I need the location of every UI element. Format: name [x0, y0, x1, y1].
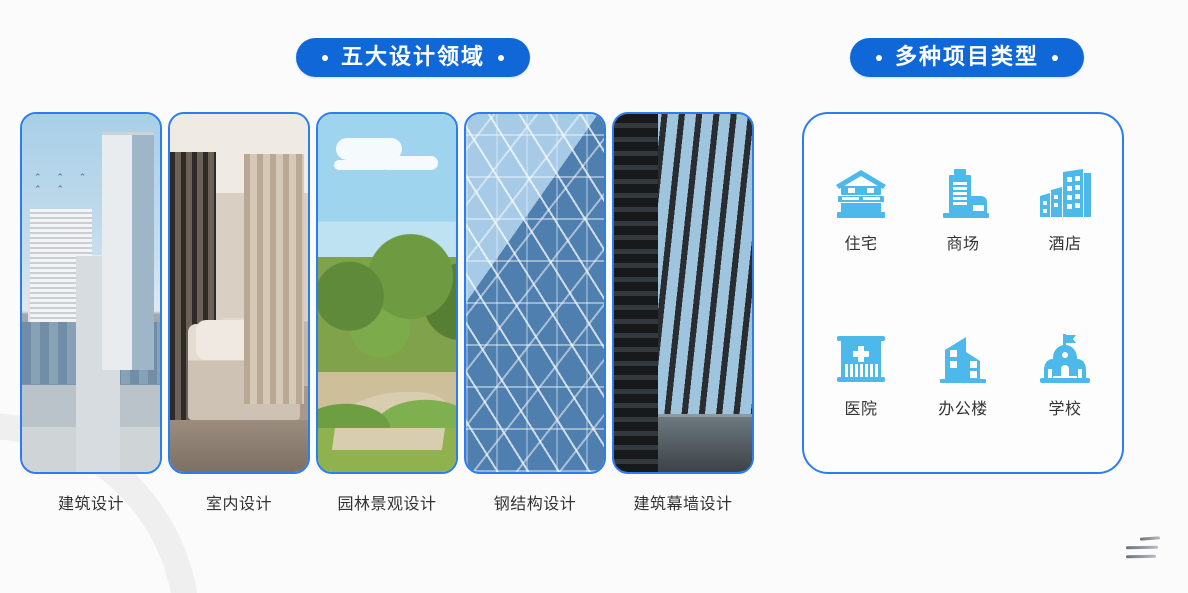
curtain-wall-design-photo [614, 114, 752, 472]
menu-line [1140, 536, 1160, 540]
photo-foreground [336, 138, 402, 160]
birds-decoration-icon: ⌃ ⌃ ⌃⌃ ⌃ [34, 172, 92, 196]
section-heading-design-fields: 五大设计领域 [296, 38, 530, 77]
project-type-label: 办公楼 [938, 395, 988, 419]
design-field-label: 钢结构设计 [494, 490, 577, 514]
project-type-mall[interactable]: 商场 [912, 168, 1014, 254]
landscape-design-photo [318, 114, 456, 472]
project-type-label: 医院 [844, 395, 877, 419]
project-type-hotel[interactable]: 酒店 [1014, 168, 1116, 254]
project-type-label: 学校 [1048, 395, 1081, 419]
design-field-card[interactable]: 钢结构设计 [464, 112, 606, 514]
project-type-residential[interactable]: 住宅 [810, 168, 912, 254]
design-fields-card-list: ⌃ ⌃ ⌃⌃ ⌃ 建筑设计 室内设计 [20, 112, 754, 514]
section-heading-project-types-label: 多种项目类型 [895, 47, 1039, 69]
project-type-label: 商场 [946, 230, 979, 254]
design-field-card[interactable]: 建筑幕墙设计 [612, 112, 754, 514]
bullet-dot-icon [498, 55, 504, 61]
design-field-thumbnail [612, 112, 754, 474]
design-field-card[interactable]: 室内设计 [168, 112, 310, 514]
hotel-icon [1037, 168, 1093, 220]
architecture-design-photo: ⌃ ⌃ ⌃⌃ ⌃ [22, 114, 160, 472]
design-field-card[interactable]: ⌃ ⌃ ⌃⌃ ⌃ 建筑设计 [20, 112, 162, 514]
section-heading-project-types: 多种项目类型 [850, 38, 1084, 77]
photo-foreground [170, 420, 308, 472]
photo-foreground [640, 414, 752, 472]
design-field-thumbnail: ⌃ ⌃ ⌃⌃ ⌃ [20, 112, 162, 474]
design-field-label: 园林景观设计 [337, 490, 436, 514]
bullet-dot-icon [1052, 55, 1058, 61]
interior-design-photo [170, 114, 308, 472]
photo-foreground [196, 320, 266, 360]
project-type-school[interactable]: 学校 [1014, 333, 1116, 419]
bullet-dot-icon [322, 55, 328, 61]
office-building-icon [935, 333, 991, 385]
design-field-label: 建筑设计 [58, 490, 124, 514]
school-icon [1037, 333, 1093, 385]
menu-line [1126, 546, 1158, 550]
hospital-icon [833, 333, 889, 385]
project-type-office[interactable]: 办公楼 [912, 333, 1014, 419]
design-field-thumbnail [464, 112, 606, 474]
bullet-dot-icon [876, 55, 882, 61]
design-field-label: 室内设计 [206, 490, 272, 514]
steel-structure-design-photo [466, 114, 604, 472]
project-type-label: 酒店 [1048, 230, 1081, 254]
house-icon [833, 168, 889, 220]
menu-line [1126, 555, 1156, 559]
project-types-panel: 住宅 商场 [802, 112, 1124, 474]
mall-icon [935, 168, 991, 220]
design-field-thumbnail [168, 112, 310, 474]
photo-foreground [22, 322, 160, 472]
section-heading-design-fields-label: 五大设计领域 [341, 47, 485, 69]
hamburger-menu-icon[interactable] [1126, 535, 1160, 561]
design-field-label: 建筑幕墙设计 [633, 490, 732, 514]
photo-foreground [332, 392, 450, 450]
slide-stage: 五大设计领域 多种项目类型 ⌃ ⌃ ⌃⌃ ⌃ 建筑设计 [0, 0, 1188, 593]
project-type-hospital[interactable]: 医院 [810, 333, 912, 419]
design-field-card[interactable]: 园林景观设计 [316, 112, 458, 514]
design-field-thumbnail [316, 112, 458, 474]
project-type-label: 住宅 [844, 230, 877, 254]
